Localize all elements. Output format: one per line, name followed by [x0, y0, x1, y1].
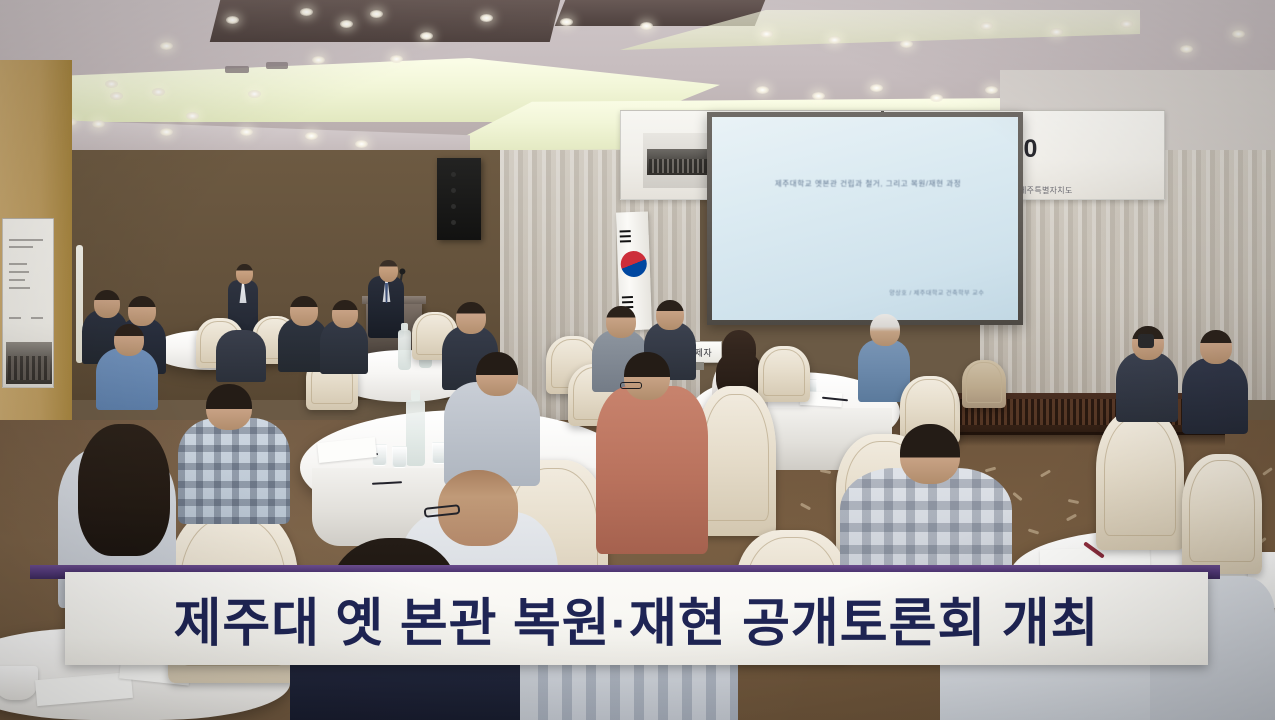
audience-person-head [290, 296, 318, 326]
downlight-icon [900, 40, 913, 48]
audience-person-head [656, 300, 684, 330]
downlight-icon [370, 10, 383, 18]
downlight-icon [870, 84, 883, 92]
standing-attendee-head [236, 264, 253, 284]
downlight-icon [355, 140, 368, 148]
audience-person-body [1182, 358, 1248, 434]
audience-person-body [96, 348, 158, 410]
headline-banner: 제주대 옛 본관 복원·재현 공개토론회 개최 [65, 572, 1208, 665]
downlight-icon [305, 132, 318, 140]
downlight-icon [980, 22, 993, 30]
banner-building-photo [643, 133, 715, 188]
downlight-icon [812, 92, 825, 100]
ceiling-vent-1 [225, 66, 249, 73]
banquet-chair-tall [1182, 454, 1262, 574]
ceiling-dark-panel-left [210, 0, 560, 42]
foreground-orange-shirt-body [596, 386, 708, 554]
foreground-person-head [476, 352, 518, 396]
foreground-woman-hair [78, 424, 170, 556]
audience-person-body [1116, 352, 1178, 422]
downlight-icon [105, 80, 118, 88]
banquet-chair [758, 346, 810, 402]
downlight-icon [420, 32, 433, 40]
wall-loudspeaker [437, 158, 481, 240]
downlight-icon [240, 128, 253, 136]
slide-author: 양상호 / 제주대학교 건축학부 교수 [889, 288, 984, 297]
downlight-icon [160, 42, 173, 50]
slide-title: 제주대학교 옛본관 건립과 철거, 그리고 복원/재현 과정 [736, 178, 999, 189]
audience-person-head [606, 306, 636, 338]
audience-person-head [128, 296, 156, 326]
downlight-icon [312, 56, 325, 64]
downlight-icon [1120, 20, 1133, 28]
eyeglasses-icon [620, 382, 642, 389]
foreground-plaid-person-body [178, 418, 290, 524]
downlight-icon [640, 22, 653, 30]
downlight-icon [1180, 45, 1193, 53]
water-bottle-large [406, 400, 425, 466]
audience-person-head [1200, 330, 1232, 364]
foreground-plaid-person-head [206, 384, 252, 430]
foreground-person-body [444, 382, 540, 486]
ceiling-vent-2 [266, 62, 288, 69]
downlight-icon [985, 86, 998, 94]
downlight-icon [340, 20, 353, 28]
downlight-icon [186, 112, 199, 120]
downlight-icon [560, 18, 573, 26]
downlight-icon [248, 90, 261, 98]
camera-device [1138, 334, 1154, 348]
downlight-icon [828, 36, 841, 44]
projection-screen: 제주대학교 옛본관 건립과 철거, 그리고 복원/재현 과정 양상호 / 제주대… [707, 112, 1023, 325]
downlight-icon [160, 128, 173, 136]
downlight-icon [390, 55, 403, 63]
bench-shadow [955, 432, 1225, 446]
projection-screen-surface: 제주대학교 옛본관 건립과 철거, 그리고 복원/재현 과정 양상호 / 제주대… [712, 117, 1018, 320]
downlight-icon [930, 94, 943, 102]
downlight-icon [300, 8, 313, 16]
wall-poster [2, 218, 54, 388]
attendee-blue-shirt-head [870, 314, 900, 346]
downlight-icon [1050, 28, 1063, 36]
taegeuk-circle [620, 250, 647, 277]
downlight-icon [1232, 30, 1245, 38]
foreground-orange-shirt-head [624, 352, 670, 400]
audience-person-head [94, 290, 120, 318]
broadcast-video-frame: 7.(금) 14:00 층 코스모스홀 제주특별자치도 제주대학교 옛본관 건립… [0, 0, 1275, 720]
presenter-body [368, 276, 404, 338]
downlight-icon [756, 86, 769, 94]
downlight-icon [92, 120, 105, 128]
downlight-icon [226, 16, 239, 24]
downlight-icon [480, 14, 493, 22]
downlight-icon [152, 88, 165, 96]
banquet-chair-tall [696, 386, 776, 536]
water-glass [392, 446, 407, 468]
headline-text: 제주대 옛 본관 복원·재현 공개토론회 개최 [65, 572, 1208, 665]
audience-person-head [332, 300, 358, 328]
audience-person-body [320, 320, 368, 374]
audience-person-head [456, 302, 486, 334]
banner-logo-text: 제주특별자치도 [1019, 185, 1073, 196]
audience-person-head [114, 324, 144, 356]
downlight-icon [760, 30, 773, 38]
presenter-head [379, 260, 398, 282]
downlight-icon [110, 92, 123, 100]
foreground-checkered-person-head [900, 424, 960, 484]
banquet-chair-tall [1096, 410, 1184, 550]
audience-person-body [216, 330, 266, 382]
water-bottle [398, 330, 411, 370]
poster-photo [6, 342, 52, 384]
banquet-chair [962, 360, 1006, 408]
coffee-cup [0, 666, 38, 700]
